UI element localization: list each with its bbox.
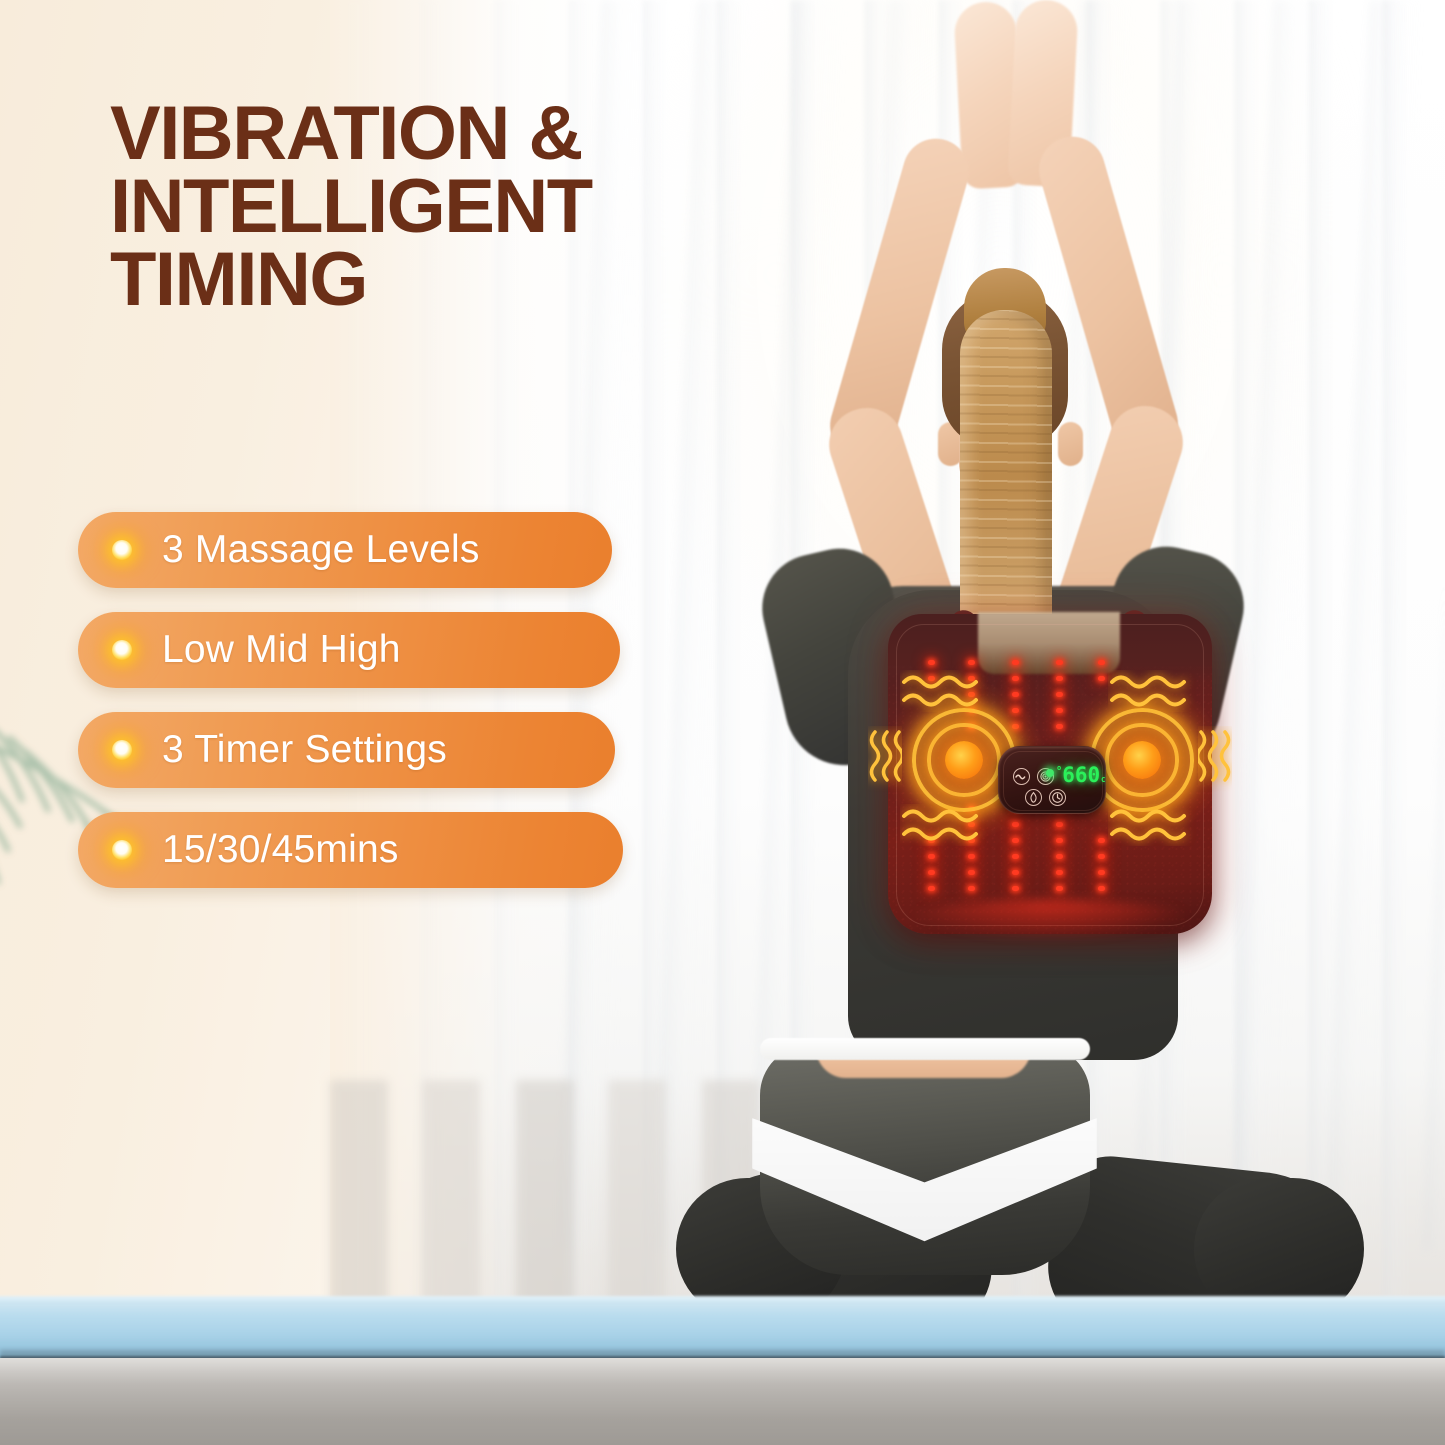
vibration-wave-bottom-left xyxy=(900,804,992,846)
led-dot xyxy=(968,870,975,875)
led-dot xyxy=(1012,838,1019,843)
led-dot xyxy=(1056,660,1063,665)
led-dot xyxy=(1056,870,1063,875)
led-dot xyxy=(1098,838,1105,843)
headline-line-2: INTELLIGENT xyxy=(110,171,750,244)
led-dot xyxy=(1056,692,1063,697)
page-title: VIBRATION & INTELLIGENT TIMING xyxy=(110,98,750,317)
feature-pill[interactable]: Low Mid High xyxy=(78,612,620,688)
display-subscript: C xyxy=(1101,777,1105,784)
vibration-core xyxy=(1123,741,1161,779)
led-dot xyxy=(1056,708,1063,713)
heat-button[interactable] xyxy=(1025,789,1042,806)
vibration-wave-bottom-right xyxy=(1108,804,1200,846)
led-dot xyxy=(1098,870,1105,875)
led-dot xyxy=(1012,660,1019,665)
led-dot xyxy=(1012,870,1019,875)
vibration-wave-top-right xyxy=(1108,670,1200,712)
led-dot xyxy=(1098,886,1105,891)
led-dot xyxy=(1098,660,1105,665)
feature-label: 15/30/45mins xyxy=(162,828,399,872)
vibration-wave-top-left xyxy=(900,670,992,712)
feature-list: 3 Massage Levels Low Mid High 3 Timer Se… xyxy=(78,512,638,912)
led-dot xyxy=(1056,854,1063,859)
led-dot xyxy=(1012,854,1019,859)
feature-label: Low Mid High xyxy=(162,628,401,672)
power-wave-icon xyxy=(1015,770,1028,783)
led-dot xyxy=(928,886,935,891)
led-dot xyxy=(1012,886,1019,891)
glow-dot-icon xyxy=(112,540,132,560)
feature-label: 3 Timer Settings xyxy=(162,728,447,772)
glow-dot-icon xyxy=(112,840,132,860)
led-dot xyxy=(928,660,935,665)
right-ear xyxy=(1058,422,1083,466)
floor-reflection xyxy=(0,1358,1445,1445)
led-dot xyxy=(968,854,975,859)
device-control-panel[interactable]: o 660 C xyxy=(998,746,1106,814)
glow-dot-icon xyxy=(112,640,132,660)
power-status-indicator xyxy=(1046,769,1054,777)
waistband xyxy=(760,1038,1090,1060)
display-value: 660 xyxy=(1062,765,1100,786)
right-vibration-node xyxy=(1090,708,1194,812)
led-dot xyxy=(1098,676,1105,681)
led-dot xyxy=(1056,838,1063,843)
led-dot xyxy=(1098,854,1105,859)
led-dot xyxy=(1056,886,1063,891)
feature-pill[interactable]: 3 Timer Settings xyxy=(78,712,615,788)
promo-graphic: o 660 C VIBRATION & INTELLIGENT TIMING 3… xyxy=(0,0,1445,1445)
led-dot xyxy=(928,870,935,875)
led-dot xyxy=(968,886,975,891)
ponytail-strands xyxy=(960,310,1052,658)
pad-heat-glow xyxy=(902,900,1198,940)
led-dot xyxy=(928,854,935,859)
side-wave-right xyxy=(1198,726,1232,792)
led-dot xyxy=(1012,676,1019,681)
led-dot xyxy=(1056,822,1063,827)
display-superscript: o xyxy=(1057,765,1061,772)
feature-pill[interactable]: 3 Massage Levels xyxy=(78,512,612,588)
glow-dot-icon xyxy=(112,740,132,760)
feature-pill[interactable]: 15/30/45mins xyxy=(78,812,623,888)
digital-display: o 660 C xyxy=(1057,764,1099,786)
feature-label: 3 Massage Levels xyxy=(162,528,480,572)
headline-line-3: TIMING xyxy=(110,244,750,317)
led-dot xyxy=(1056,724,1063,729)
power-wave-button[interactable] xyxy=(1013,768,1030,785)
side-wave-left xyxy=(868,726,902,792)
heat-icon xyxy=(1027,791,1040,804)
vibration-core xyxy=(945,741,983,779)
led-dot xyxy=(968,660,975,665)
led-dot xyxy=(1056,676,1063,681)
timer-button[interactable] xyxy=(1049,789,1066,806)
headline-line-1: VIBRATION & xyxy=(110,98,750,171)
massage-pad-device[interactable]: o 660 C xyxy=(880,608,1220,948)
clock-timer-icon xyxy=(1051,791,1064,804)
